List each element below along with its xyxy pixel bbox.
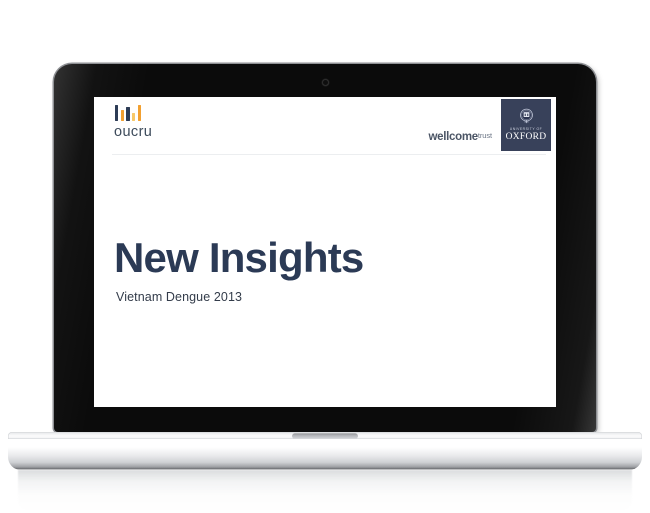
laptop-reflection (18, 470, 632, 510)
oucru-bar-2 (121, 110, 124, 121)
laptop-screen: oucru wellcometrust (94, 97, 556, 407)
oucru-bar-5 (138, 105, 141, 121)
latch-notch-icon (292, 433, 358, 439)
laptop-lid: oucru wellcometrust (54, 64, 596, 432)
oxford-wordmark: OXFORD (506, 133, 547, 143)
oxford-university-line: UNIVERSITY OF (510, 128, 542, 131)
oxford-crest-icon (517, 107, 536, 126)
slide-subtitle: Vietnam Dengue 2013 (116, 290, 363, 304)
title-block: New Insights Vietnam Dengue 2013 (114, 237, 363, 304)
header-divider (112, 154, 546, 155)
oucru-bar-3 (126, 107, 129, 121)
wellcome-trust-logo: wellcometrust (429, 127, 492, 145)
webcam-icon (322, 79, 329, 86)
slide-header: oucru wellcometrust (94, 97, 556, 155)
wellcome-wordmark: wellcome (429, 131, 478, 143)
slide-title: New Insights (114, 237, 363, 279)
oucru-bars-icon (115, 105, 152, 121)
oucru-wordmark: oucru (114, 124, 152, 140)
presentation-slide: oucru wellcometrust (94, 97, 556, 407)
oucru-bar-4 (132, 113, 135, 121)
oucru-bar-1 (115, 105, 118, 121)
laptop-base (8, 432, 642, 470)
oxford-university-logo: UNIVERSITY OF OXFORD (501, 99, 551, 151)
page-root: oucru wellcometrust (0, 0, 650, 513)
oucru-logo: oucru (114, 105, 152, 140)
trust-wordmark: trust (478, 131, 492, 140)
